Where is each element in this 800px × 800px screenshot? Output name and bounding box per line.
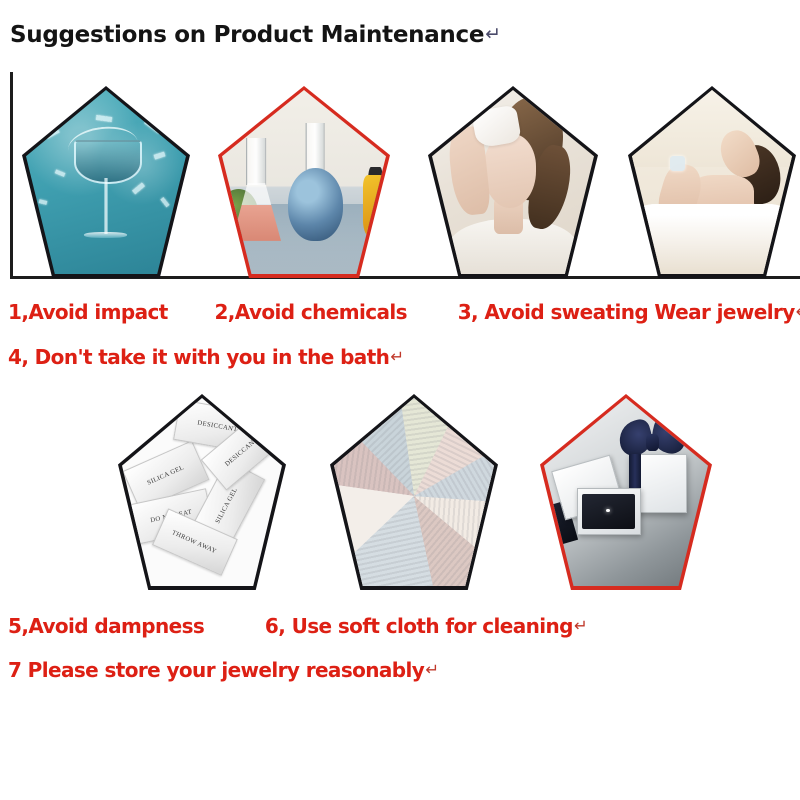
flask-neck: [247, 138, 267, 185]
caption-6: 6, Use soft cloth for cleaning: [265, 614, 573, 638]
card-sweating-image: [432, 90, 594, 274]
round-bottom-flask: [288, 123, 344, 241]
paragraph-mark-icon: ↵: [796, 302, 800, 321]
held-item: [670, 156, 684, 171]
card-soft-cloth-image: [334, 398, 494, 586]
card-dampness-image: SILICA GEL DESICCANT DO NOT EAT SILICA G…: [122, 398, 282, 586]
caption-7: 7 Please store your jewelry reasonably: [8, 658, 424, 682]
glass-shard: [45, 127, 60, 139]
maintenance-infographic: Suggestions on Product Maintenance↵: [0, 0, 800, 800]
caption-1: 1,Avoid impact: [8, 300, 168, 324]
card-bath-image: [632, 90, 792, 274]
caption-row-2: 4, Don't take it with you in the bath↵: [8, 345, 403, 369]
silica-packet-text: THROW AWAY: [171, 528, 219, 557]
ribbon-knot: [646, 434, 659, 451]
wine-glass-shattering-art: [26, 90, 186, 274]
glass-shard: [154, 151, 166, 159]
caption-row-1: 1,Avoid impact 2,Avoid chemicals 3, Avoi…: [8, 300, 800, 324]
woman-wiping-sweat-art: [432, 90, 594, 274]
paragraph-mark-icon: ↵: [425, 660, 438, 679]
glass-foot: [84, 232, 127, 238]
velvet-insert: [582, 494, 636, 529]
caption-row-3: 5,Avoid dampness 6, Use soft cloth for c…: [8, 614, 587, 638]
paragraph-mark-icon: ↵: [390, 347, 403, 366]
caption-row-4: 7 Please store your jewelry reasonably↵: [8, 658, 438, 682]
card-impact-image: [26, 90, 186, 274]
glass-shard: [144, 119, 162, 135]
silica-gel-packets-art: SILICA GEL DESICCANT DO NOT EAT SILICA G…: [122, 398, 282, 586]
flask-body-blue: [288, 168, 344, 241]
card-soft-cloth: [330, 394, 498, 590]
jewelry-gift-boxes-art: [544, 398, 708, 586]
flask-neck: [306, 123, 325, 170]
paragraph-mark-icon: ↵: [574, 616, 587, 635]
glass-shard: [161, 197, 170, 207]
caption-5: 5,Avoid dampness: [8, 614, 204, 638]
card-impact: [22, 86, 190, 278]
flask-body-pink: [232, 183, 281, 241]
vertical-rule: [10, 72, 13, 279]
card-storage: [540, 394, 712, 590]
caption-4: 4, Don't take it with you in the bath: [8, 345, 389, 369]
card-storage-image: [544, 398, 708, 586]
glass-shard: [96, 115, 113, 122]
card-dampness: SILICA GEL DESICCANT DO NOT EAT SILICA G…: [118, 394, 286, 590]
glass-shard: [132, 182, 145, 194]
glass-shard: [54, 169, 65, 177]
woman-in-bathtub-art: [632, 90, 792, 274]
flask-yellow-liquid: [363, 175, 386, 238]
silica-packet-text: SILICA GEL: [213, 486, 240, 526]
polishing-cloths-art: [334, 398, 494, 586]
page-title-text: Suggestions on Product Maintenance: [10, 22, 484, 48]
caption-3: 3, Avoid sweating Wear jewelry: [458, 300, 795, 324]
silica-packet-text: SILICA GEL: [146, 463, 186, 488]
ring: [606, 509, 610, 512]
card-sweating: [428, 86, 598, 278]
ring-box-base: [577, 488, 641, 535]
paragraph-mark-icon: ↵: [485, 23, 501, 45]
erlenmeyer-flask: [232, 138, 281, 241]
card-bath: [628, 86, 796, 278]
caption-2: 2,Avoid chemicals: [214, 300, 406, 324]
page-title: Suggestions on Product Maintenance↵: [10, 22, 501, 48]
glass-stem: [104, 178, 108, 233]
card-chemicals: [218, 86, 390, 278]
card-chemicals-image: [222, 90, 386, 274]
glass-shard: [38, 199, 47, 205]
silica-packet-text: DESICCANT: [223, 435, 261, 469]
chemistry-flasks-art: [222, 90, 386, 274]
bathtub: [635, 204, 789, 274]
